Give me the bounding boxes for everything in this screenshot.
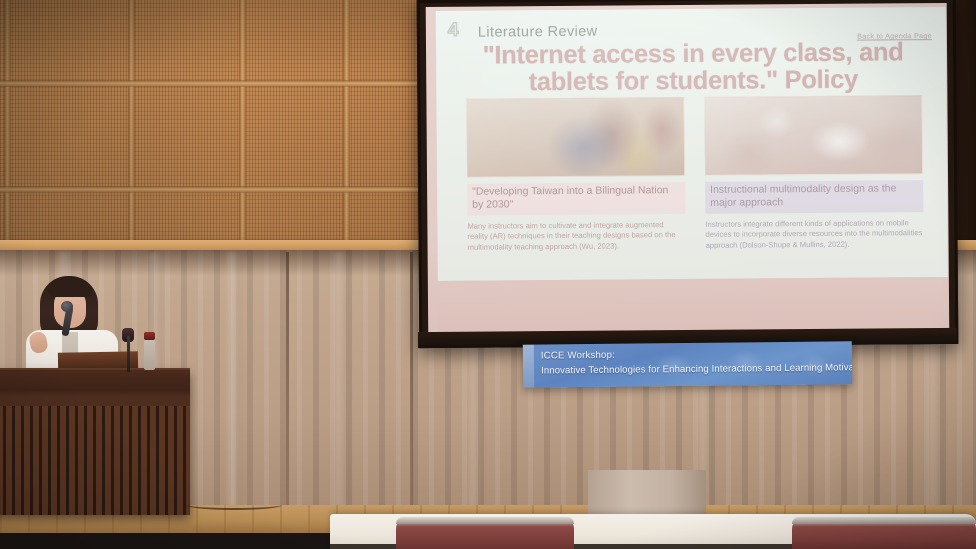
slide-number: 4 <box>448 20 459 42</box>
projection-screen: 4 Literature Review Back to Agenda Page … <box>417 0 959 348</box>
column-right-body: Instructors integrate different kinds of… <box>705 218 923 252</box>
podium <box>0 370 190 515</box>
slide-column-left: "Developing Taiwan into a Bilingual Nati… <box>466 97 685 254</box>
water-bottle <box>144 338 155 370</box>
column-left-body: Many instructors aim to cultivate and in… <box>467 220 685 254</box>
podium-slats <box>0 406 190 515</box>
table-microphone-stand <box>127 336 130 372</box>
banner-left-tab <box>523 345 534 388</box>
presentation-slide: 4 Literature Review Back to Agenda Page … <box>436 7 948 281</box>
microphone-head <box>61 301 73 312</box>
student-using-tablet-photo <box>466 97 685 178</box>
audience-chair <box>792 517 976 549</box>
room-pillar <box>588 470 706 514</box>
column-right-heading: Instructional multimodality design as th… <box>705 180 923 213</box>
workshop-banner: ICCE Workshop: Innovative Technologies f… <box>523 341 852 387</box>
water-bottle-cap <box>144 332 155 340</box>
floor-cable <box>186 500 282 510</box>
presenter-fringe <box>48 280 92 297</box>
slide-section-kicker: Literature Review <box>478 24 598 41</box>
audience-chair <box>396 517 574 549</box>
screen-surface: 4 Literature Review Back to Agenda Page … <box>426 3 950 335</box>
screen-blank-area <box>438 277 943 335</box>
column-left-heading: "Developing Taiwan into a Bilingual Nati… <box>467 182 685 215</box>
slide-column-right: Instructional multimodality design as th… <box>704 95 923 252</box>
presentation-room-scene: 4 Literature Review Back to Agenda Page … <box>0 0 976 549</box>
hands-holding-tablets-photo <box>704 95 923 176</box>
banner-title: ICCE Workshop: <box>541 350 615 362</box>
slide-title: "Internet access in every class, and tab… <box>468 39 918 97</box>
